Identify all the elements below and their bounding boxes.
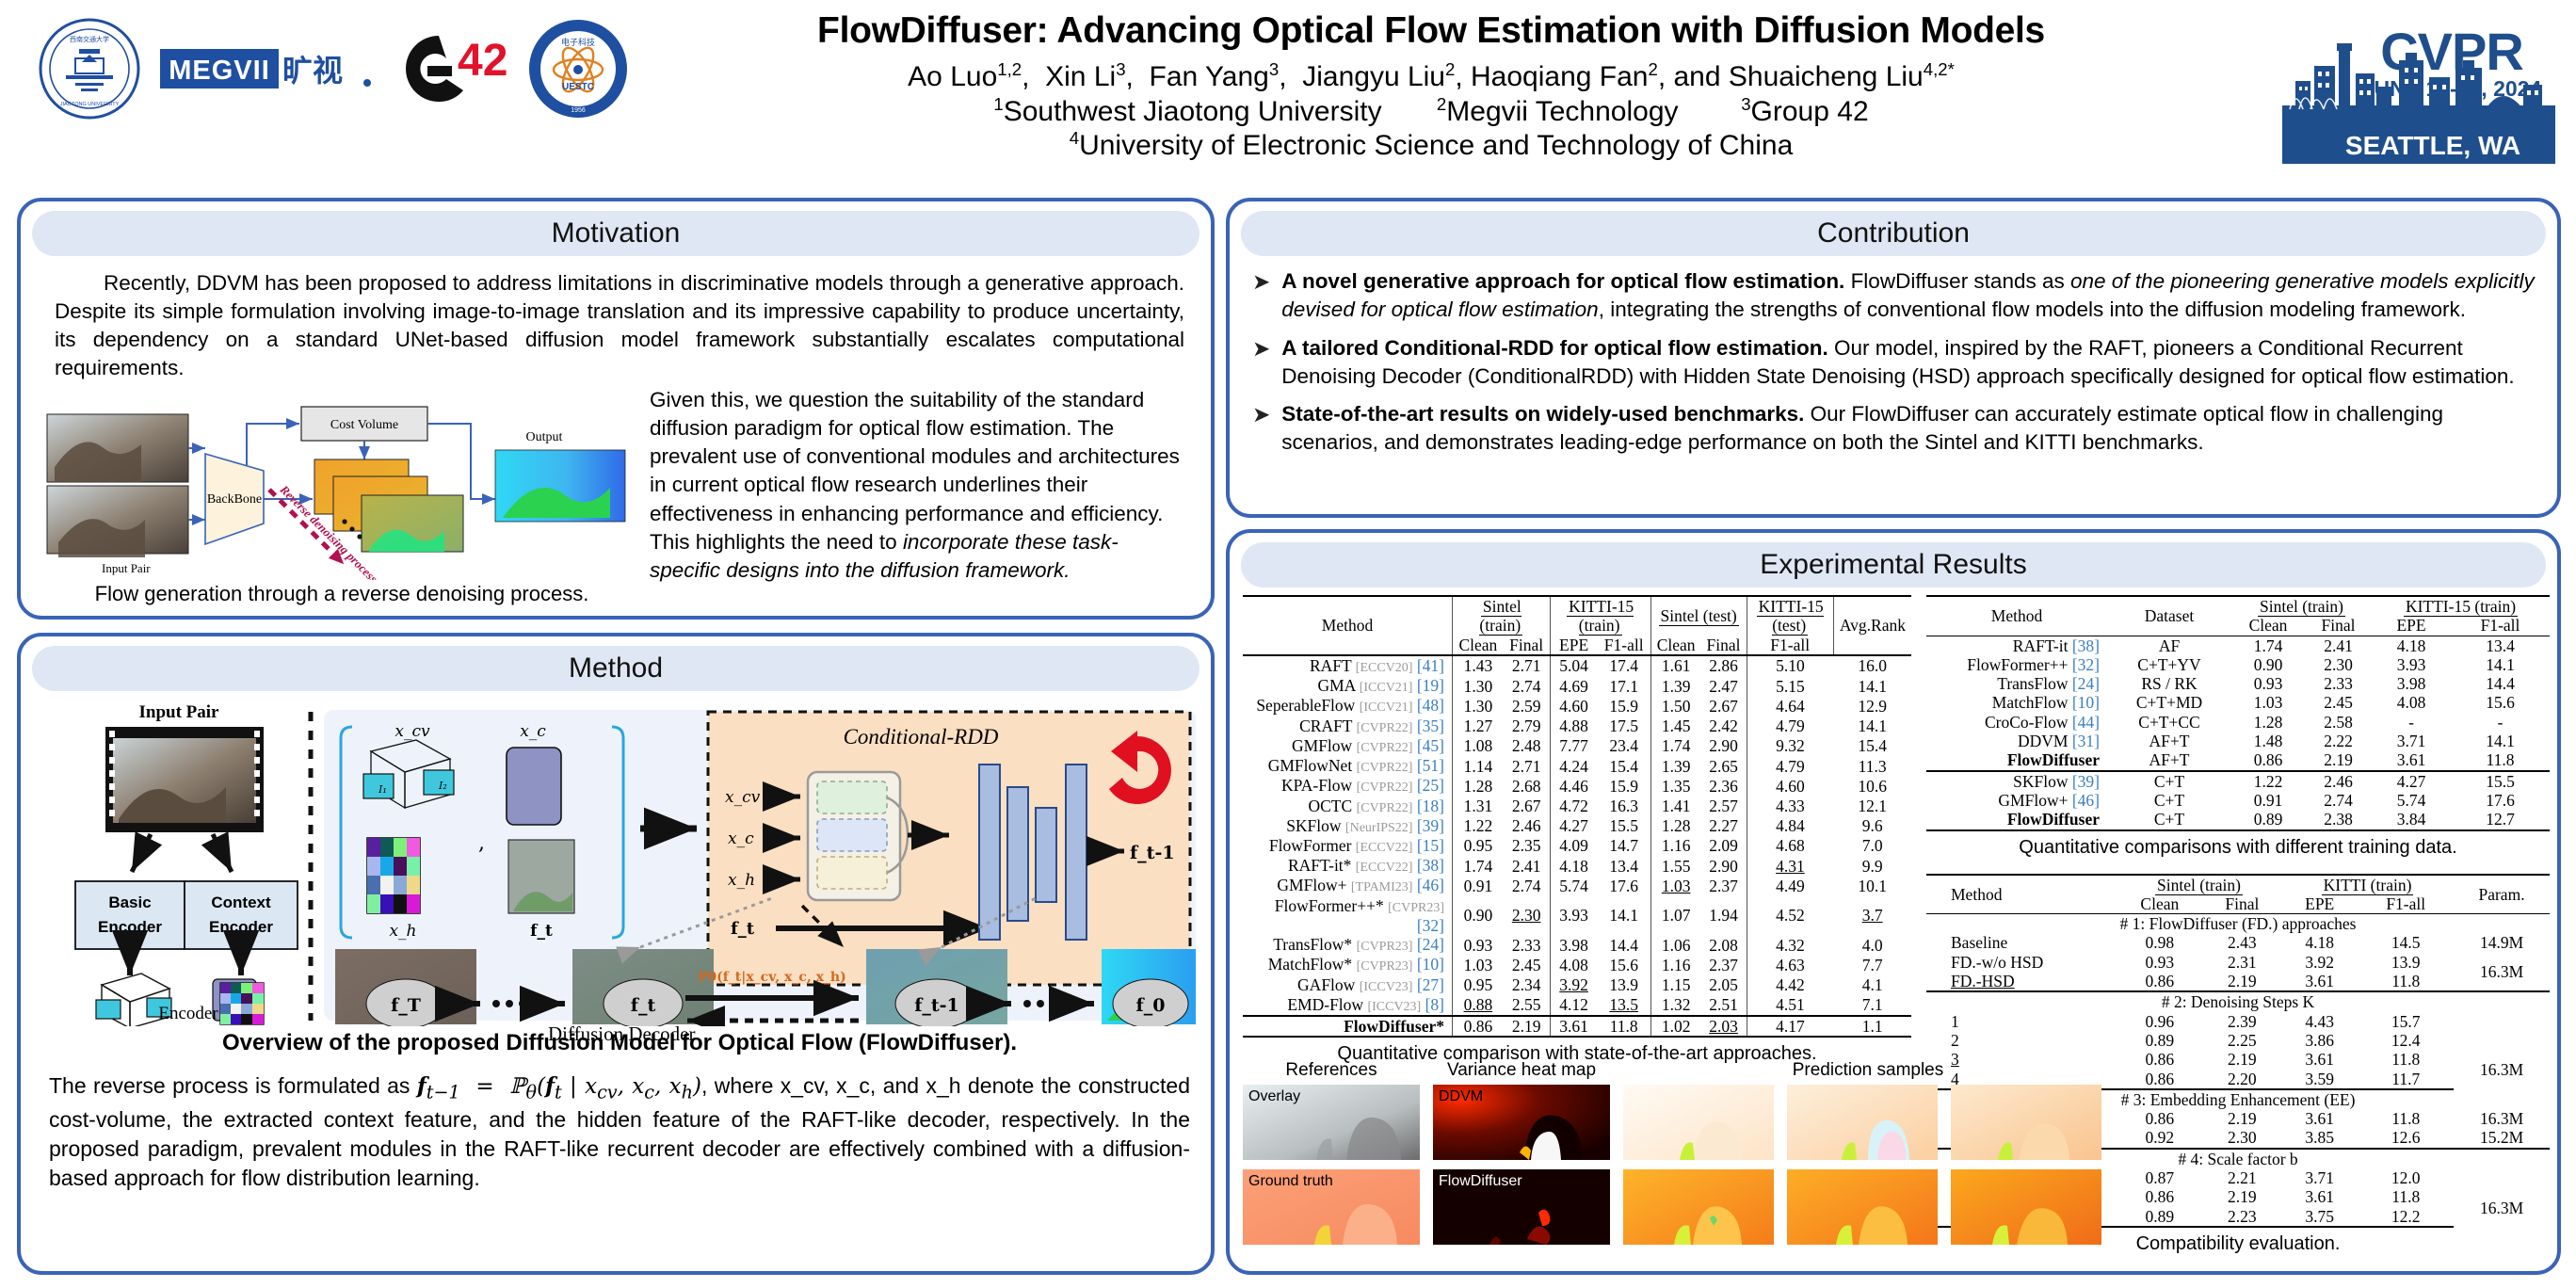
cell-value: 0.86 bbox=[2117, 1050, 2203, 1069]
cell-value: 1.45 bbox=[1650, 716, 1700, 736]
svg-text:电子科技: 电子科技 bbox=[561, 37, 595, 47]
cell-method: FlowFormer [ECCV22] [15] bbox=[1243, 836, 1453, 856]
cell-value: 11.3 bbox=[1833, 756, 1911, 776]
cell-method: RAFT [ECCV20] [41] bbox=[1243, 655, 1453, 676]
cell-value: 2.47 bbox=[1701, 676, 1747, 696]
cell-method: GAFlow [ICCV23] [27] bbox=[1243, 975, 1453, 995]
cell-value: 1.30 bbox=[1453, 696, 1504, 716]
cell-value: 0.89 bbox=[2231, 810, 2305, 829]
cell-param: 16.3M bbox=[2454, 953, 2550, 992]
arrow-bullet-icon: ➤ bbox=[1252, 400, 1270, 458]
subcol-f1all: F1-all bbox=[2358, 894, 2454, 914]
cell-value: 0.86 bbox=[2117, 1109, 2203, 1128]
contribution-1-text-b: , integrating the strengths of conventio… bbox=[1599, 298, 2466, 321]
cell-method: KPA-Flow [CVPR22] [25] bbox=[1243, 776, 1453, 796]
subcol-epe: EPE bbox=[1550, 636, 1598, 655]
visuals-col-title-references: References bbox=[1243, 1060, 1420, 1081]
cell-value: 4.63 bbox=[1747, 955, 1833, 974]
g42-logo: 42 bbox=[392, 24, 509, 114]
cell-value: 14.1 bbox=[1598, 896, 1651, 936]
cell-method: 1 bbox=[1926, 1012, 2117, 1031]
table-row: MatchFlow* [CVPR23] [10]1.032.454.0815.6… bbox=[1243, 955, 1911, 974]
cell-value: 9.6 bbox=[1833, 816, 1911, 836]
table-row: GMFlow+ [46]C+T0.912.745.7417.6 bbox=[1926, 791, 2550, 810]
cell-value: 4.27 bbox=[2372, 771, 2451, 791]
cell-value: 2.19 bbox=[1504, 1016, 1550, 1037]
cell-value: 2.19 bbox=[2203, 972, 2281, 991]
prediction-sample-2 bbox=[1787, 1085, 1938, 1160]
table-row: KPA-Flow [CVPR22] [25]1.282.684.4615.91.… bbox=[1243, 776, 1911, 796]
label-f-T: f_T bbox=[391, 995, 421, 1016]
cell-param: 15.2M bbox=[2454, 1128, 2550, 1148]
label-rdd-x-cv: x_cv bbox=[725, 788, 761, 807]
cell-value: 2.31 bbox=[2203, 953, 2281, 972]
cell-value: 11.8 bbox=[2358, 1109, 2454, 1128]
motivation-paragraph-2: Given this, we question the suitability … bbox=[650, 386, 1184, 585]
method-paragraph: The reverse process is formulated as ft−… bbox=[49, 1071, 1190, 1193]
cell-value: 3.61 bbox=[2281, 972, 2358, 991]
method-figure-caption: Overview of the proposed Diffusion Model… bbox=[38, 1030, 1201, 1056]
logo-row: 西南交通大学 JIAOTONG UNIVERSITY MEGVII 旷视 42 bbox=[38, 17, 630, 121]
cell-value: 2.22 bbox=[2305, 732, 2372, 750]
cell-method: RAFT-it* [ECCV22] [38] bbox=[1243, 856, 1453, 876]
label-output: Output bbox=[526, 430, 563, 444]
subcol-clean: Clean bbox=[1453, 636, 1504, 655]
label-f-t-chain: f_t bbox=[631, 995, 656, 1016]
dataset-table-caption: Quantitative comparisons with different … bbox=[1926, 837, 2550, 859]
label-backbone: BackBone bbox=[207, 492, 262, 507]
cell-value: 2.05 bbox=[1701, 975, 1747, 995]
cell-value: 1.74 bbox=[1650, 736, 1700, 756]
cell-value: 3.75 bbox=[2281, 1207, 2358, 1227]
cell-value: 1.94 bbox=[1701, 896, 1747, 936]
ground-truth-label: Ground truth bbox=[1248, 1173, 1333, 1190]
motivation-title: Motivation bbox=[32, 211, 1199, 256]
affiliation-line-1: 1Southwest Jiaotong University 2Megvii T… bbox=[603, 96, 2260, 129]
cell-value: 1.22 bbox=[1453, 816, 1504, 836]
cell-value: 12.7 bbox=[2451, 810, 2550, 829]
cell-value: 11.8 bbox=[2451, 750, 2550, 770]
cell-value: 2.71 bbox=[1504, 756, 1550, 776]
label-rdd-x-c: x_c bbox=[728, 829, 754, 848]
cell-value: 4.18 bbox=[1550, 856, 1598, 876]
table-row: DDVM [31]AF+T1.482.223.7114.1 bbox=[1926, 732, 2550, 750]
cell-value: 4.08 bbox=[1550, 955, 1598, 974]
cell-value: 14.1 bbox=[1833, 676, 1911, 696]
cell-value: 4.64 bbox=[1747, 696, 1833, 716]
cell-method: FlowFormer++ [32] bbox=[1926, 655, 2107, 674]
cell-value: 12.4 bbox=[2358, 1031, 2454, 1050]
cell-value: 1.03 bbox=[1453, 955, 1504, 974]
table-row: RAFT [ECCV20] [41]1.432.715.0417.41.612.… bbox=[1243, 655, 1911, 676]
cell-value: 2.65 bbox=[1701, 756, 1747, 776]
cell-value: 0.93 bbox=[2231, 674, 2305, 693]
cell-method: RAFT-it [38] bbox=[1926, 636, 2107, 655]
cell-value: 11.7 bbox=[2358, 1070, 2454, 1089]
cell-value: 1.28 bbox=[1453, 776, 1504, 796]
cell-value: 2.46 bbox=[2305, 771, 2372, 791]
table-row: 20.892.253.8612.416.3M bbox=[1926, 1031, 2550, 1050]
subcol-final-test: Final bbox=[1701, 636, 1747, 655]
cell-value: 5.04 bbox=[1550, 655, 1598, 676]
cell-value: 17.1 bbox=[1598, 676, 1651, 696]
motivation-figure: Input Pair BackBone Cost Volume bbox=[45, 401, 629, 580]
col-header-method: Method bbox=[1926, 875, 2117, 914]
cell-value: 3.92 bbox=[2281, 953, 2358, 972]
cell-value: 17.4 bbox=[1598, 655, 1651, 676]
col-group-sintel-train: Sintel (train) bbox=[2231, 596, 2372, 616]
prediction-sample-4 bbox=[1623, 1169, 1774, 1245]
cell-value: 2.68 bbox=[1504, 776, 1550, 796]
cell-value: 2.41 bbox=[2305, 636, 2372, 655]
cell-value: 1.07 bbox=[1650, 896, 1700, 936]
cell-value: 15.5 bbox=[1598, 816, 1651, 836]
cell-method: CroCo-Flow [44] bbox=[1926, 713, 2107, 732]
cell-value: 15.5 bbox=[2451, 771, 2550, 791]
cell-value: 13.5 bbox=[1598, 995, 1651, 1016]
cell-value: 1.14 bbox=[1453, 756, 1504, 776]
cell-value: 3.61 bbox=[2281, 1187, 2358, 1206]
cell-value: 17.6 bbox=[2451, 791, 2550, 810]
cell-method: 2 bbox=[1926, 1031, 2117, 1050]
method-paragraph-a: The reverse process is formulated as bbox=[49, 1073, 417, 1098]
cell-value: 2.30 bbox=[2305, 655, 2372, 674]
cell-method: GMFlow+ [46] bbox=[1926, 791, 2107, 810]
cell-value: 2.41 bbox=[1504, 856, 1550, 876]
label-f-t-minus-1-chain: f_t-1 bbox=[914, 995, 959, 1016]
cell-value: 13.4 bbox=[2451, 636, 2550, 655]
contribution-1-bold: A novel generative approach for optical … bbox=[1281, 269, 1844, 293]
cell-value: 4.52 bbox=[1747, 896, 1833, 936]
cell-value: 14.5 bbox=[2358, 933, 2454, 952]
cell-value: 12.6 bbox=[2358, 1128, 2454, 1148]
cell-value: 11.8 bbox=[2358, 972, 2454, 991]
subcol-final: Final bbox=[2203, 894, 2281, 914]
cell-method: EMD-Flow [ICCV23] [8] bbox=[1243, 995, 1453, 1016]
cell-value: 12.2 bbox=[2358, 1207, 2454, 1227]
overlay-image: Overlay bbox=[1243, 1085, 1420, 1160]
cell-method: GMA [ICCV21] [19] bbox=[1243, 676, 1453, 696]
label-input-pair: Input Pair bbox=[102, 561, 151, 575]
cell-value: 0.87 bbox=[2117, 1168, 2203, 1187]
cell-value: 1.22 bbox=[2231, 771, 2305, 791]
main-results-table: MethodSintel (train)KITTI-15 (train)Sint… bbox=[1243, 595, 1911, 1039]
cell-value: 3.71 bbox=[2372, 732, 2451, 750]
cell-dataset: AF bbox=[2107, 636, 2231, 655]
col-header-avgrank: Avg.Rank bbox=[1833, 596, 1911, 655]
cell-value: 2.45 bbox=[1504, 955, 1550, 974]
prediction-sample-1 bbox=[1623, 1085, 1774, 1160]
table-row: EMD-Flow [ICCV23] [8]0.882.554.1213.51.3… bbox=[1243, 995, 1911, 1016]
cell-method: OCTC [CVPR22] [18] bbox=[1243, 797, 1453, 816]
list-item: ➤ A novel generative approach for optica… bbox=[1252, 267, 2540, 325]
cell-value: 1.61 bbox=[1650, 655, 1700, 676]
cell-value: 13.9 bbox=[1598, 975, 1651, 995]
overlay-label: Overlay bbox=[1248, 1088, 1300, 1105]
table-row: GMFlow [CVPR22] [45]1.082.487.7723.41.74… bbox=[1243, 736, 1911, 756]
cell-value: 15.4 bbox=[1598, 756, 1651, 776]
cell-value: 0.93 bbox=[2117, 953, 2203, 972]
poster-root: 西南交通大学 JIAOTONG UNIVERSITY MEGVII 旷视 42 bbox=[0, 0, 2576, 1288]
table-row: Baseline0.982.434.1814.514.9M bbox=[1926, 933, 2550, 952]
cell-value: 4.68 bbox=[1747, 836, 1833, 856]
method-formula: ft−1 = ℙθ(ft | xcv, xc, xh) bbox=[417, 1074, 701, 1099]
label-f-t-minus-1: f_t-1 bbox=[1130, 843, 1175, 863]
cell-value: - bbox=[2451, 713, 2550, 732]
col-group-sintel-train: Sintel (train) bbox=[1453, 596, 1551, 636]
cell-value: 0.89 bbox=[2117, 1207, 2203, 1227]
cell-method: SeperableFlow [ICCV21] [48] bbox=[1243, 696, 1453, 716]
ablation-section-header: # 2: Denoising Steps K bbox=[1926, 991, 2550, 1011]
cell-value: 3.93 bbox=[2372, 655, 2451, 674]
cell-value: 1.03 bbox=[2231, 693, 2305, 712]
cell-value: 9.9 bbox=[1833, 856, 1911, 876]
cell-value: 2.67 bbox=[1504, 797, 1550, 816]
cell-value: 13.9 bbox=[2358, 953, 2454, 972]
cell-value: 3.86 bbox=[2281, 1031, 2358, 1050]
cell-value: 4.18 bbox=[2372, 636, 2451, 655]
table-row: RAFT-it [38]AF1.742.414.1813.4 bbox=[1926, 636, 2550, 655]
table-row: FlowDiffuser*0.862.193.6111.81.022.034.1… bbox=[1243, 1016, 1911, 1037]
cell-value: 4.51 bbox=[1747, 995, 1833, 1016]
table-row: FlowFormer [ECCV22] [15]0.952.354.0914.7… bbox=[1243, 836, 1911, 856]
cell-value: 1.30 bbox=[1453, 676, 1504, 696]
cell-value: 4.69 bbox=[1550, 676, 1598, 696]
cell-method: TransFlow [24] bbox=[1926, 674, 2107, 693]
cell-value: 4.24 bbox=[1550, 756, 1598, 776]
motivation-figure-caption: Flow generation through a reverse denois… bbox=[45, 582, 638, 606]
cell-value: 2.09 bbox=[1701, 836, 1747, 856]
list-item: ➤ A tailored Conditional-RDD for optical… bbox=[1252, 334, 2540, 392]
table-row: FlowDiffuserC+T0.892.383.8412.7 bbox=[1926, 810, 2550, 829]
cell-value: 3.92 bbox=[1550, 975, 1598, 995]
prediction-sample-5 bbox=[1787, 1169, 1938, 1245]
cell-value: 2.79 bbox=[1504, 716, 1550, 736]
col-header-dataset: Dataset bbox=[2107, 596, 2231, 636]
col-header-param: Param. bbox=[2454, 875, 2550, 914]
table-row: CRAFT [CVPR22] [35]1.272.794.8817.51.452… bbox=[1243, 716, 1911, 736]
cell-method: FD.-w/o HSD bbox=[1926, 953, 2117, 972]
cell-value: 4.88 bbox=[1550, 716, 1598, 736]
table-row: MatchFlow [10]C+T+MD1.032.454.0815.6 bbox=[1926, 693, 2550, 712]
cell-value: 1.31 bbox=[1453, 797, 1504, 816]
cell-value: 4.79 bbox=[1747, 716, 1833, 736]
cell-value: 7.1 bbox=[1833, 995, 1911, 1016]
cell-method: FlowDiffuser* bbox=[1243, 1016, 1453, 1037]
contribution-list: ➤ A novel generative approach for optica… bbox=[1252, 267, 2540, 467]
cell-value: 4.09 bbox=[1550, 836, 1598, 856]
title-block: FlowDiffuser: Advancing Optical Flow Est… bbox=[603, 11, 2260, 162]
cell-value: 2.30 bbox=[2203, 1128, 2281, 1148]
cell-value: 4.32 bbox=[1747, 935, 1833, 955]
subcol-f1all: F1-all bbox=[2451, 616, 2550, 636]
cell-value: 0.95 bbox=[1453, 836, 1504, 856]
method-figure: Input Pair Basic Encoder Context Encoder bbox=[38, 697, 1201, 1026]
col-header-method: Method bbox=[1926, 596, 2107, 636]
cell-value: - bbox=[2372, 713, 2451, 732]
table-row: RAFT-it* [ECCV22] [38]1.742.414.1813.41.… bbox=[1243, 856, 1911, 876]
cell-value: 2.42 bbox=[1701, 716, 1747, 736]
table-row: FlowFormer++ [32]C+T+YV0.902.303.9314.1 bbox=[1926, 655, 2550, 674]
svg-text:42: 42 bbox=[458, 36, 507, 86]
subcol-clean: Clean bbox=[2231, 616, 2305, 636]
motivation-paragraph-1: Recently, DDVM has been proposed to addr… bbox=[55, 269, 1184, 382]
cell-value: 3.71 bbox=[2281, 1168, 2358, 1187]
cell-value: 2.51 bbox=[1701, 995, 1747, 1016]
cell-value: 1.03 bbox=[1650, 876, 1700, 895]
cell-value: 10.6 bbox=[1833, 776, 1911, 796]
panel-contribution: Contribution ➤ A novel generative approa… bbox=[1226, 198, 2561, 518]
cell-value: 2.21 bbox=[2203, 1168, 2281, 1187]
cell-dataset: C+T+YV bbox=[2107, 655, 2231, 674]
subcol-final: Final bbox=[2305, 616, 2372, 636]
cell-value: 3.93 bbox=[1550, 896, 1598, 936]
subcol-f1all: F1-all bbox=[1598, 636, 1651, 655]
cell-method: DDVM [31] bbox=[1926, 732, 2107, 750]
cell-value: 3.7 bbox=[1833, 896, 1911, 936]
table-row: GMA [ICCV21] [19]1.302.744.6917.11.392.4… bbox=[1243, 676, 1911, 696]
label-conditional-rdd: Conditional-RDD bbox=[844, 725, 999, 749]
subcol-epe: EPE bbox=[2281, 894, 2358, 914]
cell-value: 4.60 bbox=[1747, 776, 1833, 796]
cell-value: 4.60 bbox=[1550, 696, 1598, 716]
cell-value: 2.03 bbox=[1701, 1016, 1747, 1037]
table-row: FlowFormer++* [CVPR23] [32]0.902.303.931… bbox=[1243, 896, 1911, 936]
cell-value: 2.08 bbox=[1701, 935, 1747, 955]
cell-value: 4.31 bbox=[1747, 856, 1833, 876]
cell-value: 4.0 bbox=[1833, 935, 1911, 955]
cell-method: CRAFT [CVPR22] [35] bbox=[1243, 716, 1453, 736]
label-prob-forward: Pθ(f_t|x_cv, x_c, x_h) bbox=[698, 970, 845, 985]
cell-value: 5.74 bbox=[1550, 876, 1598, 895]
cell-value: 2.19 bbox=[2203, 1187, 2281, 1206]
cell-value: 4.72 bbox=[1550, 797, 1598, 816]
cell-value: 3.61 bbox=[2372, 750, 2451, 770]
cell-value: 1.02 bbox=[1650, 1016, 1700, 1037]
table-row: OCTC [CVPR22] [18]1.312.674.7216.31.412.… bbox=[1243, 797, 1911, 816]
cell-value: 15.6 bbox=[1598, 955, 1651, 974]
cell-value: 17.6 bbox=[1598, 876, 1651, 895]
subcol-final: Final bbox=[1504, 636, 1550, 655]
cell-param: 14.9M bbox=[2454, 933, 2550, 952]
cell-value: 1.1 bbox=[1833, 1016, 1911, 1037]
table-row: TransFlow [24]RS / RK0.932.333.9814.4 bbox=[1926, 674, 2550, 693]
cell-value: 0.96 bbox=[2117, 1012, 2203, 1031]
dataset-comparison-table: MethodDatasetSintel (train)KITTI-15 (tra… bbox=[1926, 595, 2550, 833]
cell-method: FlowFormer++* [CVPR23] [32] bbox=[1243, 896, 1453, 936]
megvii-logo: MEGVII 旷视 bbox=[158, 36, 375, 102]
cell-value: 2.90 bbox=[1701, 736, 1747, 756]
visuals-col-title-predictions: Prediction samples bbox=[1623, 1060, 2113, 1081]
cell-value: 2.58 bbox=[2305, 713, 2372, 732]
cell-value: 2.39 bbox=[2203, 1012, 2281, 1031]
cell-value: 2.33 bbox=[1504, 935, 1550, 955]
col-group-sintel-test: Sintel (test) bbox=[1650, 596, 1747, 636]
cell-dataset: AF+T bbox=[2107, 732, 2231, 750]
arrow-bullet-icon: ➤ bbox=[1252, 267, 1270, 325]
cell-value: 0.90 bbox=[2231, 655, 2305, 674]
cell-value: 11.8 bbox=[1598, 1016, 1651, 1037]
cell-value: 15.9 bbox=[1598, 776, 1651, 796]
cell-value: 1.08 bbox=[1453, 736, 1504, 756]
cell-value: 0.86 bbox=[2117, 1070, 2203, 1089]
cell-value: 14.7 bbox=[1598, 836, 1651, 856]
table-row: GMFlowNet [CVPR22] [51]1.142.714.2415.41… bbox=[1243, 756, 1911, 776]
cell-value: 1.74 bbox=[1453, 856, 1504, 876]
cell-method: MatchFlow [10] bbox=[1926, 693, 2107, 712]
cell-value: 1.16 bbox=[1650, 836, 1700, 856]
cell-value: 2.90 bbox=[1701, 856, 1747, 876]
cell-dataset: C+T bbox=[2107, 791, 2231, 810]
cell-dataset: C+T bbox=[2107, 810, 2231, 829]
col-header-method: Method bbox=[1243, 596, 1453, 655]
cell-value: 1.74 bbox=[2231, 636, 2305, 655]
cell-value: 5.15 bbox=[1747, 676, 1833, 696]
cell-value: 2.33 bbox=[2305, 674, 2372, 693]
table-row: 10.962.394.4315.7 bbox=[1926, 1012, 2550, 1031]
cell-value: 2.20 bbox=[2203, 1070, 2281, 1089]
cell-param: 16.3M bbox=[2454, 1109, 2550, 1128]
svg-text:MEGVII: MEGVII bbox=[169, 56, 270, 86]
cell-value: 1.43 bbox=[1453, 655, 1504, 676]
subcol-clean: Clean bbox=[2117, 894, 2203, 914]
col-group-kitti-train: KITTI-15 (train) bbox=[2372, 596, 2550, 616]
svg-text:I₁: I₁ bbox=[378, 783, 387, 796]
qualitative-visuals: References Variance heat map Prediction … bbox=[1243, 1060, 2118, 1267]
cell-value: 3.85 bbox=[2281, 1128, 2358, 1148]
col-group-kitti-test: KITTI-15 (test) bbox=[1747, 596, 1833, 636]
contribution-3-bold: State-of-the-art results on widely-used … bbox=[1281, 402, 1804, 426]
table-row: SKFlow [39]C+T1.222.464.2715.5 bbox=[1926, 771, 2550, 791]
svg-text:旷视: 旷视 bbox=[282, 54, 343, 88]
cell-value: 3.61 bbox=[2281, 1109, 2358, 1128]
list-item: ➤ State-of-the-art results on widely-use… bbox=[1252, 400, 2540, 458]
cell-value: 2.71 bbox=[1504, 655, 1550, 676]
cell-value: 0.91 bbox=[1453, 876, 1504, 895]
cell-value: 2.67 bbox=[1701, 696, 1747, 716]
cell-value: 0.86 bbox=[1453, 1016, 1504, 1037]
cell-value: 1.50 bbox=[1650, 696, 1700, 716]
label-f-t: f_t bbox=[530, 922, 553, 941]
cell-value: 11.8 bbox=[2358, 1050, 2454, 1069]
cell-value: 1.55 bbox=[1650, 856, 1700, 876]
cell-value: 1.32 bbox=[1650, 995, 1700, 1016]
cell-value: 1.39 bbox=[1650, 756, 1700, 776]
cell-method: TransFlow* [CVPR23] [24] bbox=[1243, 935, 1453, 955]
cell-value: 2.46 bbox=[1504, 816, 1550, 836]
svg-text:Encoder: Encoder bbox=[209, 918, 273, 936]
cell-value: 4.1 bbox=[1833, 975, 1911, 995]
svg-text:1956: 1956 bbox=[571, 107, 586, 114]
cell-value: 3.61 bbox=[1550, 1016, 1598, 1037]
cell-value: 2.25 bbox=[2203, 1031, 2281, 1050]
svg-text:Basic: Basic bbox=[108, 894, 151, 911]
cell-value: 2.74 bbox=[2305, 791, 2372, 810]
cell-value: 2.19 bbox=[2203, 1050, 2281, 1069]
method-title: Method bbox=[32, 646, 1199, 691]
cell-value: 2.43 bbox=[2203, 933, 2281, 952]
cell-value: 7.77 bbox=[1550, 736, 1598, 756]
svg-text:UESTC: UESTC bbox=[562, 82, 594, 92]
cell-value: 2.55 bbox=[1504, 995, 1550, 1016]
cell-value: 0.86 bbox=[2117, 972, 2203, 991]
cell-method: FlowDiffuser bbox=[1926, 810, 2107, 829]
flowdiffuser-label: FlowDiffuser bbox=[1439, 1173, 1522, 1190]
cell-value: 15.4 bbox=[1833, 736, 1911, 756]
label-rdd-x-h: x_h bbox=[728, 871, 755, 890]
cell-value: 3.98 bbox=[2372, 674, 2451, 693]
cell-method: FlowDiffuser bbox=[1926, 750, 2107, 770]
